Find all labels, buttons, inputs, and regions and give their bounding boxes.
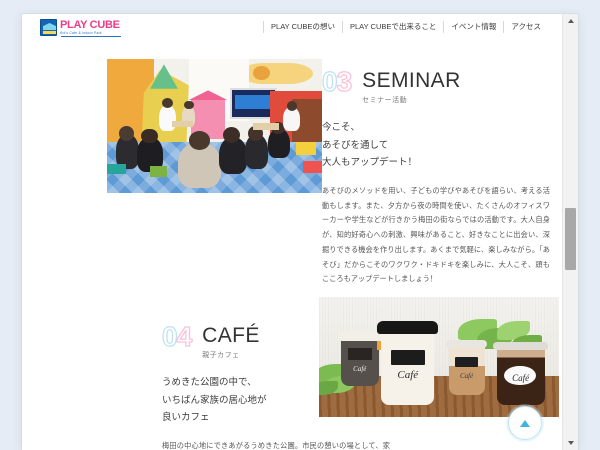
seminar-lead: 今こそ、 あそびを通して 大人もアップデート！ bbox=[322, 119, 550, 172]
logo-text-block: PLAY CUBE Kid's Cafe & Indoor Park bbox=[60, 20, 120, 36]
seminar-section-number: 03 bbox=[322, 69, 351, 94]
scroll-to-top-button[interactable] bbox=[508, 406, 542, 440]
cafe-cup-label-4: Café bbox=[506, 373, 535, 383]
cafe-number-digit-1: 0 bbox=[162, 321, 177, 352]
cafe-copy-block: 04 CAFÉ 親子カフェ うめきた公園の中で、 いちばん家族の居心地が 良いカ… bbox=[162, 324, 392, 450]
cafe-subtitle: 親子カフェ bbox=[202, 350, 260, 360]
arrow-up-icon bbox=[520, 420, 530, 427]
seminar-heading: 03 SEMINAR セミナー活動 bbox=[322, 69, 550, 105]
seminar-number-digit-1: 0 bbox=[322, 66, 337, 97]
nav-item-access[interactable]: アクセス bbox=[503, 21, 548, 33]
scrollbar-down-arrow[interactable] bbox=[563, 436, 578, 450]
cafe-title: CAFÉ bbox=[202, 325, 260, 347]
page-content-viewport: PLAY CUBE Kid's Cafe & Indoor Park PLAY … bbox=[22, 14, 562, 450]
seminar-subtitle: セミナー活動 bbox=[362, 95, 460, 105]
cafe-number-digit-2: 4 bbox=[177, 321, 192, 352]
seminar-title: SEMINAR bbox=[362, 70, 460, 92]
chevron-up-icon bbox=[568, 19, 574, 23]
cafe-section-number: 04 bbox=[162, 324, 191, 349]
main-navigation: PLAY CUBEの想い PLAY CUBEで出来ること イベント情報 アクセス bbox=[263, 21, 548, 33]
seminar-copy-block: 03 SEMINAR セミナー活動 今こそ、 あそびを通して 大人もアップデート… bbox=[322, 69, 550, 287]
cafe-body: 梅田の中心地にできあがるうめきた公園。市民の憩いの場として、家族で思い切り遊ぶ場… bbox=[162, 439, 390, 450]
logo-underline bbox=[61, 36, 121, 38]
nav-item-dekirukoto[interactable]: PLAY CUBEで出来ること bbox=[342, 21, 443, 33]
scrollbar-up-arrow[interactable] bbox=[563, 14, 578, 28]
cafe-cup-latte-clear: Café bbox=[449, 345, 485, 395]
site-logo[interactable]: PLAY CUBE Kid's Cafe & Indoor Park bbox=[40, 19, 120, 36]
seminar-number-digit-2: 3 bbox=[337, 66, 352, 97]
scrollbar-thumb[interactable] bbox=[565, 208, 576, 270]
browser-page-frame: PLAY CUBE Kid's Cafe & Indoor Park PLAY … bbox=[22, 14, 578, 450]
nav-item-event[interactable]: イベント情報 bbox=[443, 21, 503, 33]
site-header: PLAY CUBE Kid's Cafe & Indoor Park PLAY … bbox=[22, 14, 562, 42]
seminar-photo bbox=[107, 59, 322, 193]
cafe-cup-iced-coffee: Café bbox=[497, 347, 545, 405]
vertical-scrollbar[interactable] bbox=[562, 14, 578, 450]
section-cafe: Café Café Café bbox=[22, 294, 562, 450]
cafe-heading: 04 CAFÉ 親子カフェ bbox=[162, 324, 392, 360]
logo-wordmark: PLAY CUBE bbox=[60, 20, 120, 31]
chevron-down-icon bbox=[568, 441, 574, 445]
play-cube-logo-icon bbox=[40, 19, 57, 36]
cafe-lead: うめきた公園の中で、 いちばん家族の居心地が 良いカフェ bbox=[162, 374, 392, 427]
section-seminar: 03 SEMINAR セミナー活動 今こそ、 あそびを通して 大人もアップデート… bbox=[22, 42, 562, 294]
nav-item-omoi[interactable]: PLAY CUBEの想い bbox=[263, 21, 342, 33]
cafe-cup-label-3: Café bbox=[456, 372, 478, 380]
seminar-photo-scene bbox=[107, 59, 322, 193]
cafe-cup-label-2: Café bbox=[392, 369, 424, 381]
seminar-body: あそびのメソッドを用い、子どもの学びやあそびを語らい、考える活動もします。また、… bbox=[322, 184, 550, 287]
